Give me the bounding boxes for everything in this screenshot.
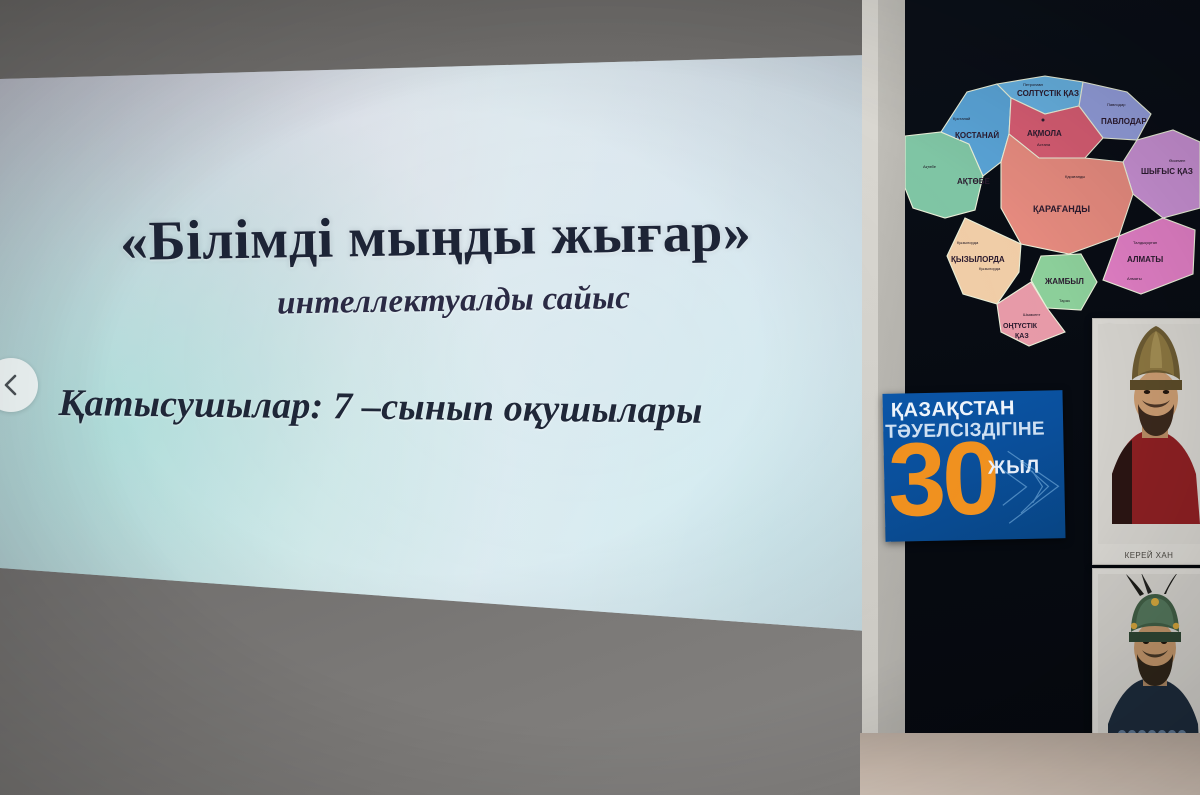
map-region-almaty: АЛМАТЫ bbox=[1127, 255, 1163, 264]
independence-30-poster: ҚАЗАҚСТАН ТӘУЕЛСІЗДІГІНЕ 30 ЖЫЛ bbox=[882, 390, 1065, 542]
map-region-north-kaz: СОЛТҮСТІК ҚАЗ bbox=[1017, 89, 1079, 98]
slide-subtitle: интеллектуалды сайыс bbox=[0, 276, 874, 327]
map-region-east-kaz: ШЫҒЫС ҚАЗ bbox=[1141, 167, 1193, 176]
map-city-pavlodar: Павлодар bbox=[1107, 102, 1126, 107]
map-region-kyzylorda: ҚЫЗЫЛОРДА bbox=[951, 255, 1005, 264]
map-city-taldykorgan: Талдықорған bbox=[1133, 240, 1157, 245]
poster-ornament-icon bbox=[996, 442, 1066, 530]
map-city-shymkent: Шымкент bbox=[1023, 312, 1041, 317]
map-region-south-kaz: ОҢТҮСТІК bbox=[1003, 323, 1038, 330]
map-region-akmola: АҚМОЛА bbox=[1027, 129, 1062, 138]
map-city-taraz: Тараз bbox=[1059, 298, 1070, 303]
slide-title: «Білімді мыңды жығар» bbox=[0, 198, 874, 276]
map-region-south-kaz-2: ҚАЗ bbox=[1015, 333, 1029, 340]
map-region-karagandy: ҚАРАҒАНДЫ bbox=[1033, 204, 1090, 214]
map-city-almaty: Алматы bbox=[1127, 276, 1142, 281]
portrait-card-kerey: КЕРЕЙ ХАН bbox=[1092, 318, 1200, 565]
map-city-karagandy: Қарағанды bbox=[1065, 174, 1085, 179]
map-region-pavlodar: ПАВЛОДАР bbox=[1101, 117, 1147, 126]
map-city-kostanay: Қостанай bbox=[953, 116, 970, 121]
wall-frame-highlight bbox=[862, 0, 878, 760]
map-city-astana: Астана bbox=[1037, 142, 1051, 147]
portrait-name-kerey: КЕРЕЙ ХАН bbox=[1093, 551, 1200, 560]
map-region-aktobe: АҚТӨБЕ bbox=[957, 177, 991, 186]
screenshot-root: «Білімді мыңды жығар» интеллектуалды сай… bbox=[0, 0, 1200, 795]
map-city-oskemen: Өскемен bbox=[1169, 158, 1185, 163]
portrait-image-kerey bbox=[1098, 324, 1200, 559]
map-city-kyzylorda-2: Қызылорда bbox=[979, 266, 1001, 271]
map-region-kostanay: ҚОСТАНАЙ bbox=[955, 131, 999, 140]
kazakhstan-map: АҚТӨБЕ ҚОСТАНАЙ СОЛТҮСТІК ҚАЗ ПАВЛОДАР А… bbox=[905, 58, 1200, 348]
slide-text-block: «Білімді мыңды жығар» интеллектуалды сай… bbox=[0, 55, 875, 655]
projection-screen: «Білімді мыңды жығар» интеллектуалды сай… bbox=[0, 55, 875, 655]
map-city-aktobe: Ақтөбе bbox=[923, 164, 937, 169]
chevron-left-icon bbox=[1, 372, 21, 398]
map-region-zhambyl: ЖАМБЫЛ bbox=[1044, 277, 1084, 286]
floor-strip bbox=[860, 733, 1200, 795]
map-city-kyzylorda-1: Қызылорда bbox=[957, 240, 979, 245]
slide-participants: Қатысушылар: 7 –сынып оқушылары bbox=[58, 381, 818, 434]
poster-number: 30 bbox=[887, 432, 997, 530]
map-city-petropavl: Петропавл bbox=[1023, 82, 1044, 87]
